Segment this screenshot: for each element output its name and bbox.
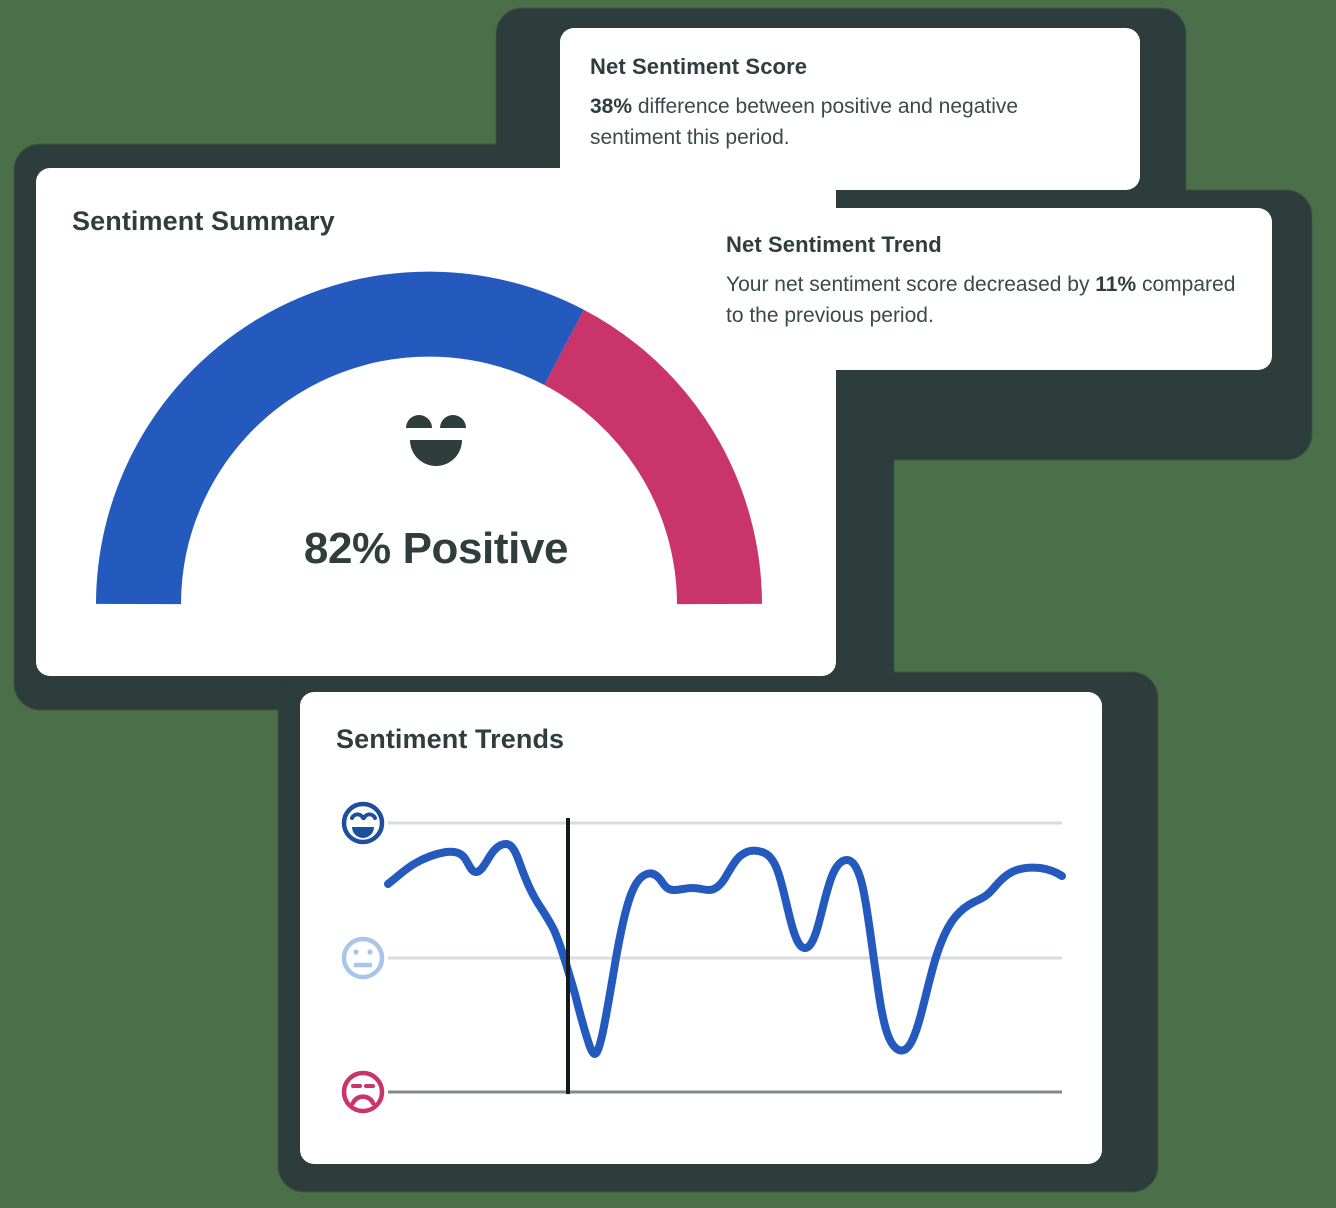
- gauge-center-content: 82% Positive: [36, 406, 836, 574]
- net-sentiment-score-body-text: difference between positive and negative…: [590, 95, 1018, 149]
- net-sentiment-score-card: Net Sentiment Score 38% difference betwe…: [560, 28, 1140, 190]
- smiling-face-icon: [401, 406, 471, 472]
- sad-face-icon: [344, 1073, 382, 1111]
- neutral-face-icon: [344, 939, 382, 977]
- net-sentiment-score-title: Net Sentiment Score: [590, 54, 1110, 80]
- net-sentiment-trend-value: 11%: [1095, 273, 1136, 296]
- net-sentiment-trend-card: Net Sentiment Trend Your net sentiment s…: [694, 208, 1272, 370]
- net-sentiment-trend-title: Net Sentiment Trend: [726, 232, 1240, 258]
- trends-chart-svg: [300, 692, 1102, 1164]
- gauge-value-label: 82% Positive: [36, 524, 836, 574]
- net-sentiment-score-value: 38%: [590, 95, 632, 118]
- net-sentiment-trend-body-lead: Your net sentiment score decreased by: [726, 273, 1095, 296]
- sentiment-trends-card: Sentiment Trends: [300, 692, 1102, 1164]
- trend-line: [388, 844, 1062, 1054]
- net-sentiment-trend-body: Your net sentiment score decreased by 11…: [726, 270, 1240, 331]
- net-sentiment-score-body: 38% difference between positive and nega…: [590, 92, 1110, 153]
- happy-face-icon: [344, 804, 382, 842]
- screenshot-stage: Sentiment Summary 82% Positive Se: [0, 0, 1336, 1208]
- sentiment-trends-chart: [300, 692, 1102, 1164]
